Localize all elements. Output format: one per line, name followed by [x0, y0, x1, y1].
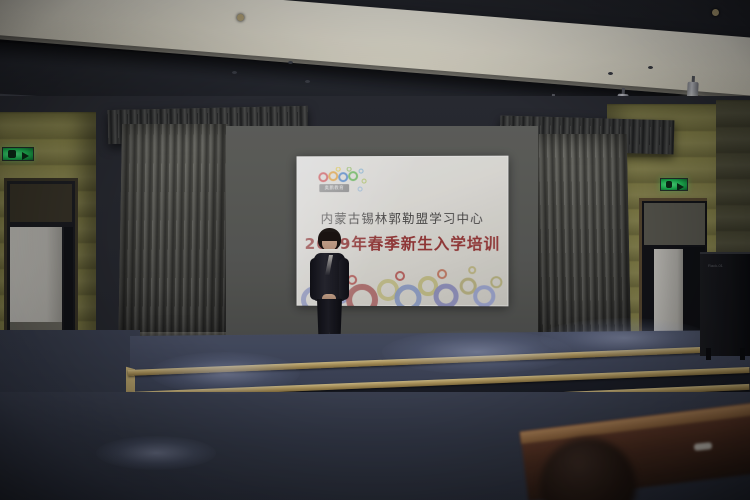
ring-13 [469, 267, 475, 273]
ring-9 [475, 287, 493, 305]
door-left-leaf[interactable] [10, 227, 62, 336]
logo-wordmark: 奥鹏教育 [319, 184, 349, 192]
door-left-jamb [64, 227, 73, 336]
exit-sign-right [660, 178, 688, 191]
equipment-cabinet: Rack-01 [700, 252, 750, 356]
ring-6 [347, 167, 351, 171]
ring-1 [319, 173, 327, 181]
openedu-logo: 奥鹏教育 [318, 167, 370, 193]
ceiling-vent-icon [608, 72, 613, 75]
stage-curtain-left [118, 124, 228, 346]
ring-14 [491, 277, 501, 287]
door-left-transom [10, 184, 72, 222]
exit-sign-left [2, 147, 34, 161]
cabinet-label: Rack-01 [708, 263, 723, 268]
ceiling-vent-icon [648, 66, 653, 69]
auditorium-photo: 奥鹏教育 内蒙古锡林郭勒盟学习中心 2019年春季新生入学培训 Rack-01 [0, 0, 750, 500]
ring-3 [349, 287, 375, 306]
stage-curtain-right [531, 134, 631, 348]
ring-7 [359, 169, 363, 173]
ring-5 [397, 287, 419, 306]
ceiling-vent-icon [305, 80, 310, 83]
sprinkler-icon [712, 9, 719, 16]
presenter-fringe [319, 232, 340, 241]
ring-4 [349, 172, 357, 180]
ceiling-vent-icon [232, 71, 237, 74]
slide-title: 内蒙古锡林郭勒盟学习中心 [297, 208, 509, 227]
ring-6 [420, 278, 436, 294]
door-right[interactable] [639, 198, 707, 350]
ring-2 [329, 172, 337, 180]
ring-11 [396, 272, 404, 280]
ring-8 [461, 279, 475, 293]
door-left[interactable] [4, 178, 78, 342]
ring-4 [379, 281, 397, 299]
ring-5 [336, 167, 340, 171]
presenter-arm-left [310, 258, 320, 300]
presenter-arm-right [339, 258, 349, 300]
sprinkler-icon [237, 14, 244, 21]
ring-7 [436, 286, 456, 306]
cabinet-leg [706, 348, 711, 360]
cabinet-leg [740, 348, 745, 360]
door-right-transom [644, 203, 705, 245]
ceiling-vent-icon [288, 61, 293, 64]
ring-3 [339, 173, 347, 181]
exit-running-man-icon [3, 148, 33, 160]
ring-12 [438, 270, 446, 278]
ring-8 [362, 179, 366, 183]
ring-9 [358, 187, 362, 191]
exit-running-man-icon [661, 179, 687, 190]
